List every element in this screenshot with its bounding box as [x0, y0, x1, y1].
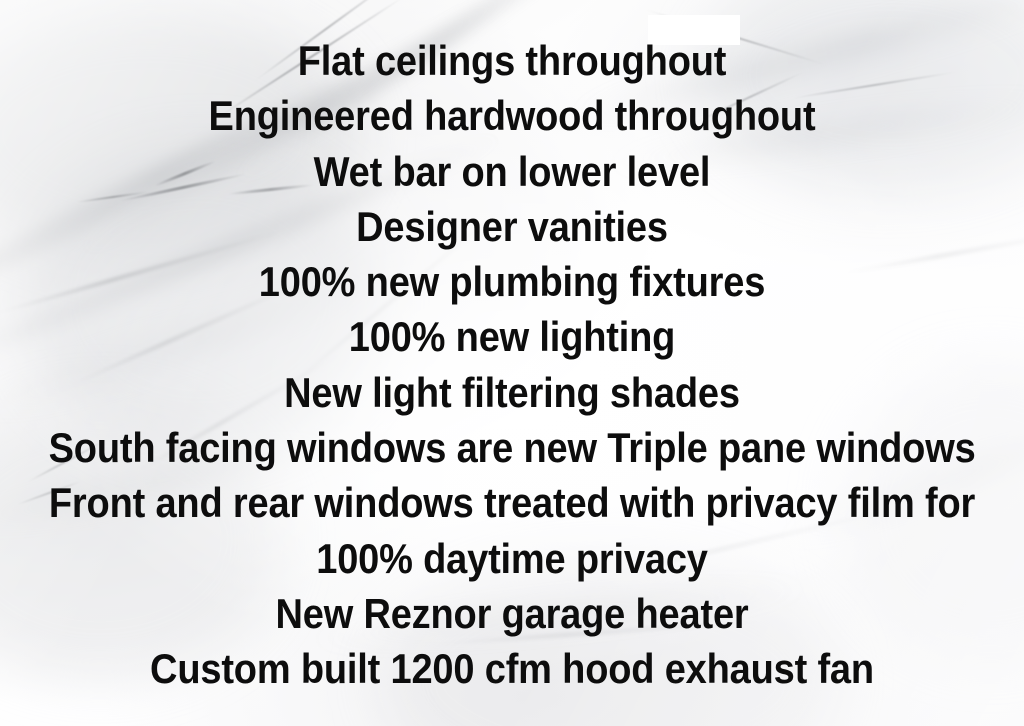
feature-line: Flat ceilings throughout [49, 33, 976, 88]
feature-list: Flat ceilings throughout Engineered hard… [0, 0, 1024, 726]
feature-line: Engineered hardwood throughout [49, 88, 976, 143]
feature-line: 100% daytime privacy [49, 531, 976, 586]
feature-line: Wet bar on lower level [49, 144, 976, 199]
feature-line: South facing windows are new Triple pane… [49, 420, 976, 475]
marble-feature-slide: Flat ceilings throughout Engineered hard… [0, 0, 1024, 726]
feature-line: Front and rear windows treated with priv… [49, 475, 976, 530]
feature-line: New Reznor garage heater [49, 586, 976, 641]
feature-line: 100% new plumbing fixtures [49, 254, 976, 309]
feature-line: Designer vanities [49, 199, 976, 254]
feature-line: Custom built 1200 cfm hood exhaust fan [49, 641, 976, 696]
feature-line: 100% new lighting [49, 309, 976, 364]
feature-line: New light filtering shades [49, 365, 976, 420]
